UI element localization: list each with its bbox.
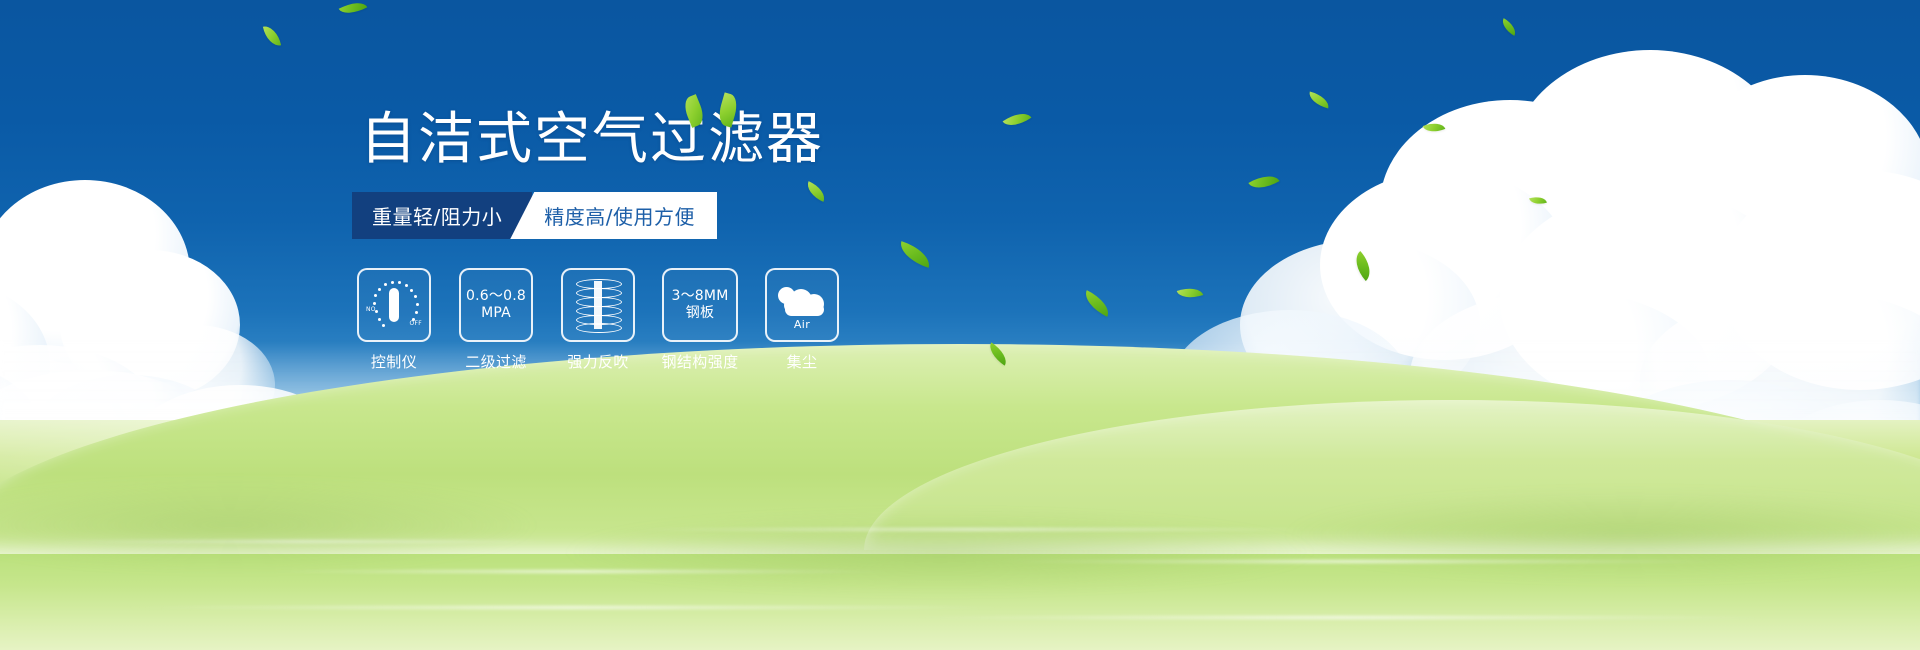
feature-label: 钢结构强度 bbox=[662, 351, 739, 372]
leaf-icon bbox=[1423, 119, 1446, 137]
leaf-icon bbox=[1307, 92, 1331, 109]
feature-label: 控制仪 bbox=[371, 351, 417, 372]
feature-icon-text: 0.6～0.8 MPA bbox=[466, 288, 526, 321]
gauge-label-on: NO bbox=[366, 306, 376, 313]
grass-field bbox=[0, 420, 1920, 650]
leaf-icon bbox=[339, 0, 368, 19]
subtitle-pills: 重量轻/阻力小 精度高/使用方便 bbox=[352, 192, 717, 239]
subtitle-pill-primary: 重量轻/阻力小 bbox=[352, 192, 532, 239]
feature-item-blowback[interactable]: 强力反吹 bbox=[562, 268, 634, 372]
feature-item-pressure[interactable]: 0.6～0.8 MPA 二级过滤 bbox=[460, 268, 532, 372]
feature-label: 二级过滤 bbox=[465, 351, 527, 372]
leaf-icon bbox=[1529, 194, 1547, 207]
leaf-icon bbox=[1348, 251, 1377, 281]
air-cloud-icon: Air bbox=[776, 281, 828, 329]
feature-icon-text: 3～8MM 钢板 bbox=[672, 288, 729, 321]
feature-icon-box: NO OFF bbox=[357, 268, 431, 342]
leaf-icon bbox=[1248, 169, 1279, 195]
feature-icon-box: 0.6～0.8 MPA bbox=[459, 268, 533, 342]
air-label: Air bbox=[776, 318, 828, 331]
feature-icon-box: 3～8MM 钢板 bbox=[662, 268, 738, 342]
leaf-icon bbox=[263, 24, 281, 48]
feature-label: 集尘 bbox=[787, 351, 818, 372]
feature-item-controller[interactable]: NO OFF 控制仪 bbox=[358, 268, 430, 372]
feature-icon-box: Air bbox=[765, 268, 839, 342]
leaf-icon bbox=[1177, 284, 1204, 303]
banner-content: 自洁式空气过滤器 重量轻/阻力小 精度高/使用方便 bbox=[352, 112, 1052, 239]
gauge-icon: NO OFF bbox=[366, 279, 422, 331]
leaf-icon bbox=[1499, 18, 1520, 36]
hero-banner: 自洁式空气过滤器 重量轻/阻力小 精度高/使用方便 bbox=[0, 0, 1920, 650]
feature-item-dust[interactable]: Air 集尘 bbox=[766, 268, 838, 372]
leaf-icon bbox=[896, 241, 934, 268]
page-title: 自洁式空气过滤器 bbox=[360, 112, 1052, 168]
coil-icon bbox=[576, 279, 620, 331]
feature-item-steel[interactable]: 3～8MM 钢板 钢结构强度 bbox=[664, 268, 736, 372]
subtitle-pill-secondary: 精度高/使用方便 bbox=[510, 192, 717, 239]
feature-list: NO OFF 控制仪 0.6～0.8 MPA 二级过滤 bbox=[358, 268, 838, 372]
leaf-icon bbox=[1080, 290, 1114, 317]
gauge-label-off: OFF bbox=[409, 320, 422, 327]
feature-label: 强力反吹 bbox=[567, 351, 629, 372]
feature-icon-box bbox=[561, 268, 635, 342]
